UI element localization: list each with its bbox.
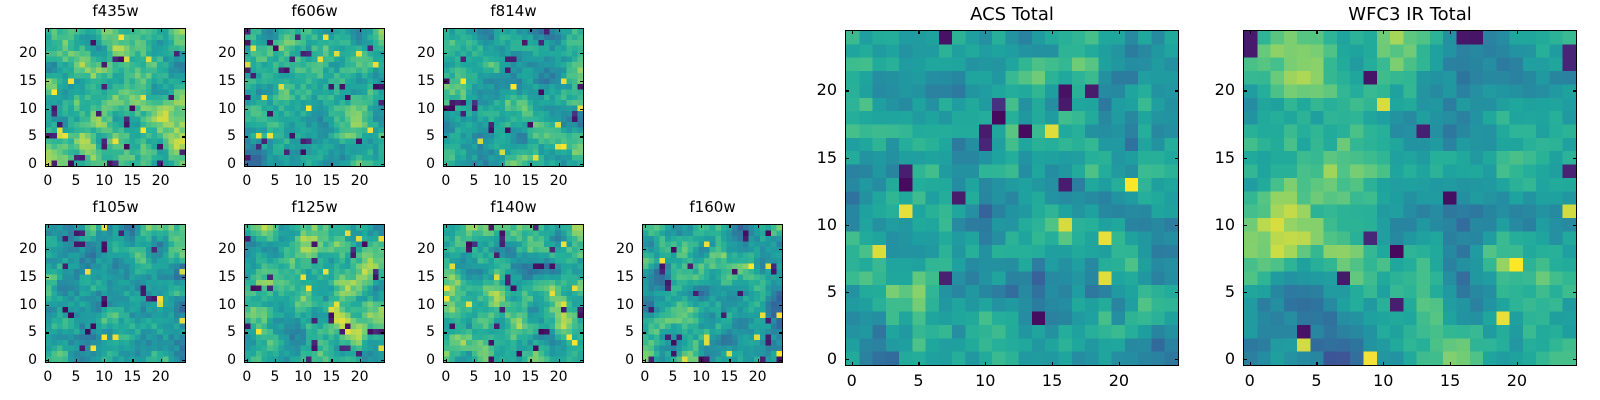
x-tick-label: 15 (123, 174, 141, 188)
y-tick-left (443, 360, 447, 361)
x-tick-top (104, 224, 105, 228)
panel-wfc3-ir-total: WFC3 IR Total0510152005101520 (1183, 4, 1577, 396)
y-tick-left (45, 81, 49, 82)
y-tick-left (443, 53, 447, 54)
heatmap-image-f814w (444, 29, 583, 166)
x-tick-label: 20 (1109, 373, 1129, 389)
x-tick-top (474, 28, 475, 32)
y-tick-left (244, 360, 248, 361)
x-tick-bottom (1316, 362, 1317, 366)
y-tick-left (45, 53, 49, 54)
y-tick-label: 10 (184, 298, 236, 312)
y-tick-left (45, 164, 49, 165)
y-tick-right (779, 305, 783, 306)
y-tick-label: 20 (184, 242, 236, 256)
y-tick-left (1243, 359, 1247, 360)
x-tick-bottom (303, 163, 304, 167)
x-tick-bottom (474, 163, 475, 167)
x-tick-label: 5 (913, 373, 923, 389)
y-tick-right (1175, 158, 1179, 159)
panel-f160w: f160w0510152005101520 (582, 198, 783, 393)
x-tick-top (247, 28, 248, 32)
y-tick-right (580, 109, 584, 110)
y-tick-label: 5 (1183, 284, 1235, 300)
x-tick-top (331, 224, 332, 228)
y-tick-left (443, 109, 447, 110)
y-tick-left (642, 360, 646, 361)
heatmap-axes-f105w (45, 224, 186, 363)
x-tick-top (559, 28, 560, 32)
y-tick-label: 5 (383, 129, 435, 143)
x-tick-bottom (559, 359, 560, 363)
y-tick-left (845, 225, 849, 226)
figure-canvas: f435w0510152005101520f606w05101520051015… (0, 0, 1600, 400)
panel-title-wfc3-ir-total: WFC3 IR Total (1243, 6, 1577, 24)
x-tick-top (1450, 30, 1451, 34)
heatmap-axes-f606w (244, 28, 385, 167)
x-tick-top (247, 224, 248, 228)
y-tick-label: 10 (582, 298, 634, 312)
y-tick-left (443, 332, 447, 333)
panel-f140w: f140w0510152005101520 (383, 198, 584, 393)
y-tick-left (244, 136, 248, 137)
x-tick-label: 15 (322, 174, 340, 188)
x-tick-top (76, 28, 77, 32)
y-tick-left (244, 249, 248, 250)
x-tick-top (502, 224, 503, 228)
x-tick-label: 0 (43, 370, 52, 384)
y-tick-left (642, 332, 646, 333)
y-tick-label: 10 (383, 102, 435, 116)
x-tick-top (161, 28, 162, 32)
x-tick-label: 0 (43, 174, 52, 188)
x-tick-bottom (275, 163, 276, 167)
x-tick-label: 20 (550, 174, 568, 188)
x-tick-bottom (275, 359, 276, 363)
x-tick-label: 20 (749, 370, 767, 384)
x-tick-top (530, 224, 531, 228)
x-tick-bottom (132, 163, 133, 167)
x-tick-label: 15 (322, 370, 340, 384)
x-tick-label: 10 (1373, 373, 1393, 389)
heatmap-image-acs-total (846, 31, 1178, 365)
y-tick-right (1175, 90, 1179, 91)
x-tick-bottom (559, 163, 560, 167)
x-tick-label: 5 (470, 370, 479, 384)
x-tick-top (1383, 30, 1384, 34)
x-tick-bottom (104, 163, 105, 167)
y-tick-left (244, 332, 248, 333)
y-tick-left (45, 360, 49, 361)
y-tick-label: 20 (582, 242, 634, 256)
y-tick-label: 5 (785, 284, 837, 300)
y-tick-right (580, 53, 584, 54)
heatmap-image-f140w (444, 225, 583, 362)
x-tick-top (1052, 30, 1053, 34)
heatmap-image-f435w (46, 29, 185, 166)
x-tick-label: 15 (720, 370, 738, 384)
x-tick-top (132, 224, 133, 228)
x-tick-bottom (474, 359, 475, 363)
y-tick-right (779, 249, 783, 250)
y-tick-left (845, 158, 849, 159)
y-tick-left (45, 332, 49, 333)
y-tick-right (1573, 292, 1577, 293)
y-tick-label: 5 (0, 129, 37, 143)
x-tick-top (559, 224, 560, 228)
y-tick-left (845, 359, 849, 360)
x-tick-top (985, 30, 986, 34)
y-tick-label: 20 (785, 82, 837, 98)
y-tick-label: 15 (184, 74, 236, 88)
heatmap-axes-f435w (45, 28, 186, 167)
y-tick-left (45, 305, 49, 306)
y-tick-label: 0 (582, 353, 634, 367)
y-tick-label: 20 (0, 242, 37, 256)
y-tick-left (45, 277, 49, 278)
x-tick-label: 0 (242, 370, 251, 384)
x-tick-bottom (360, 359, 361, 363)
y-tick-label: 0 (785, 351, 837, 367)
x-tick-label: 0 (242, 174, 251, 188)
x-tick-bottom (502, 163, 503, 167)
y-tick-label: 10 (1183, 217, 1235, 233)
y-tick-left (244, 277, 248, 278)
y-tick-label: 10 (785, 217, 837, 233)
y-tick-label: 0 (1183, 351, 1235, 367)
y-tick-left (45, 136, 49, 137)
x-tick-bottom (673, 359, 674, 363)
heatmap-axes-wfc3-ir-total (1243, 30, 1577, 366)
y-tick-label: 10 (184, 102, 236, 116)
x-tick-label: 5 (72, 174, 81, 188)
y-tick-label: 20 (1183, 82, 1235, 98)
x-tick-label: 20 (152, 370, 170, 384)
x-tick-top (360, 28, 361, 32)
y-tick-right (1573, 359, 1577, 360)
y-tick-left (244, 81, 248, 82)
y-tick-label: 15 (0, 270, 37, 284)
y-tick-right (779, 332, 783, 333)
y-tick-label: 15 (0, 74, 37, 88)
x-tick-label: 10 (95, 174, 113, 188)
y-tick-left (45, 249, 49, 250)
x-tick-label: 15 (1440, 373, 1460, 389)
x-tick-top (474, 224, 475, 228)
x-tick-label: 0 (441, 370, 450, 384)
x-tick-bottom (985, 362, 986, 366)
panel-f125w: f125w0510152005101520 (184, 198, 385, 393)
x-tick-label: 10 (692, 370, 710, 384)
x-tick-label: 10 (975, 373, 995, 389)
y-tick-label: 5 (383, 325, 435, 339)
x-tick-bottom (360, 163, 361, 167)
y-tick-label: 5 (0, 325, 37, 339)
y-tick-left (1243, 90, 1247, 91)
x-tick-label: 20 (152, 174, 170, 188)
heatmap-axes-f140w (443, 224, 584, 363)
panel-f814w: f814w0510152005101520 (383, 2, 584, 197)
heatmap-image-f606w (245, 29, 384, 166)
panel-title-f105w: f105w (45, 200, 186, 215)
y-tick-left (443, 136, 447, 137)
x-tick-label: 15 (123, 370, 141, 384)
y-tick-label: 0 (184, 157, 236, 171)
x-tick-top (132, 28, 133, 32)
y-tick-label: 15 (582, 270, 634, 284)
x-tick-label: 20 (1507, 373, 1527, 389)
x-tick-label: 20 (550, 370, 568, 384)
x-tick-top (758, 224, 759, 228)
x-tick-top (104, 28, 105, 32)
x-tick-label: 0 (1245, 373, 1255, 389)
x-tick-label: 15 (521, 370, 539, 384)
y-tick-label: 10 (0, 298, 37, 312)
y-tick-left (244, 109, 248, 110)
x-tick-bottom (161, 163, 162, 167)
x-tick-bottom (132, 359, 133, 363)
x-tick-bottom (530, 163, 531, 167)
y-tick-label: 10 (383, 298, 435, 312)
x-tick-top (729, 224, 730, 228)
y-tick-label: 15 (383, 270, 435, 284)
y-tick-right (779, 277, 783, 278)
y-tick-left (443, 249, 447, 250)
x-tick-top (76, 224, 77, 228)
x-tick-bottom (331, 359, 332, 363)
x-tick-label: 5 (271, 370, 280, 384)
x-tick-top (303, 224, 304, 228)
x-tick-bottom (1517, 362, 1518, 366)
y-tick-left (443, 81, 447, 82)
y-tick-label: 0 (0, 157, 37, 171)
x-tick-label: 5 (271, 174, 280, 188)
x-tick-label: 20 (351, 174, 369, 188)
x-tick-top (701, 224, 702, 228)
x-tick-label: 15 (1042, 373, 1062, 389)
x-tick-top (1119, 30, 1120, 34)
y-tick-right (1573, 90, 1577, 91)
x-tick-label: 5 (669, 370, 678, 384)
x-tick-bottom (1119, 362, 1120, 366)
y-tick-right (1175, 225, 1179, 226)
y-tick-left (443, 277, 447, 278)
panel-title-acs-total: ACS Total (845, 6, 1179, 24)
x-tick-bottom (918, 362, 919, 366)
y-tick-left (1243, 158, 1247, 159)
heatmap-image-f125w (245, 225, 384, 362)
y-tick-label: 5 (582, 325, 634, 339)
heatmap-image-f105w (46, 225, 185, 362)
x-tick-label: 0 (640, 370, 649, 384)
panel-title-f435w: f435w (45, 4, 186, 19)
x-tick-bottom (76, 359, 77, 363)
y-tick-left (443, 164, 447, 165)
x-tick-bottom (701, 359, 702, 363)
y-tick-label: 20 (184, 46, 236, 60)
y-tick-label: 20 (383, 46, 435, 60)
x-tick-label: 0 (441, 174, 450, 188)
y-tick-label: 15 (184, 270, 236, 284)
y-tick-left (244, 164, 248, 165)
y-tick-right (580, 164, 584, 165)
x-tick-top (446, 224, 447, 228)
x-tick-top (446, 28, 447, 32)
y-tick-left (244, 53, 248, 54)
y-tick-label: 5 (184, 325, 236, 339)
x-tick-top (48, 28, 49, 32)
x-tick-label: 5 (470, 174, 479, 188)
x-tick-top (673, 224, 674, 228)
x-tick-top (502, 28, 503, 32)
x-tick-label: 10 (95, 370, 113, 384)
x-tick-top (645, 224, 646, 228)
x-tick-label: 5 (1311, 373, 1321, 389)
y-tick-left (845, 292, 849, 293)
x-tick-label: 15 (521, 174, 539, 188)
x-tick-bottom (502, 359, 503, 363)
x-tick-label: 0 (847, 373, 857, 389)
x-tick-bottom (303, 359, 304, 363)
y-tick-right (1573, 225, 1577, 226)
x-tick-bottom (76, 163, 77, 167)
y-tick-left (1243, 225, 1247, 226)
x-tick-label: 10 (294, 370, 312, 384)
x-tick-bottom (729, 359, 730, 363)
panel-f105w: f105w0510152005101520 (0, 198, 186, 393)
y-tick-right (580, 81, 584, 82)
x-tick-bottom (1450, 362, 1451, 366)
heatmap-axes-acs-total (845, 30, 1179, 366)
y-tick-label: 0 (184, 353, 236, 367)
x-tick-label: 10 (294, 174, 312, 188)
x-tick-top (852, 30, 853, 34)
y-tick-label: 20 (0, 46, 37, 60)
y-tick-label: 15 (1183, 150, 1235, 166)
panel-acs-total: ACS Total0510152005101520 (785, 4, 1179, 396)
heatmap-image-wfc3-ir-total (1244, 31, 1576, 365)
panel-title-f606w: f606w (244, 4, 385, 19)
x-tick-top (1517, 30, 1518, 34)
y-tick-left (642, 305, 646, 306)
x-tick-top (331, 28, 332, 32)
x-tick-top (918, 30, 919, 34)
y-tick-label: 20 (383, 242, 435, 256)
x-tick-label: 5 (72, 370, 81, 384)
heatmap-axes-f160w (642, 224, 783, 363)
panel-f606w: f606w0510152005101520 (184, 2, 385, 197)
y-tick-right (580, 136, 584, 137)
x-tick-top (530, 28, 531, 32)
x-tick-bottom (1250, 362, 1251, 366)
heatmap-axes-f125w (244, 224, 385, 363)
y-tick-left (1243, 292, 1247, 293)
y-tick-right (1175, 359, 1179, 360)
x-tick-top (1316, 30, 1317, 34)
y-tick-label: 15 (785, 150, 837, 166)
heatmap-image-f160w (643, 225, 782, 362)
y-tick-right (1573, 158, 1577, 159)
x-tick-bottom (161, 359, 162, 363)
x-tick-label: 10 (493, 174, 511, 188)
x-tick-top (275, 224, 276, 228)
y-tick-label: 5 (184, 129, 236, 143)
x-tick-top (275, 28, 276, 32)
panel-title-f140w: f140w (443, 200, 584, 215)
y-tick-label: 10 (0, 102, 37, 116)
x-tick-top (360, 224, 361, 228)
y-tick-left (642, 277, 646, 278)
y-tick-label: 0 (383, 157, 435, 171)
x-tick-top (48, 224, 49, 228)
x-tick-bottom (331, 163, 332, 167)
x-tick-bottom (104, 359, 105, 363)
y-tick-label: 0 (0, 353, 37, 367)
x-tick-top (161, 224, 162, 228)
x-tick-bottom (1383, 362, 1384, 366)
x-tick-label: 10 (493, 370, 511, 384)
x-tick-bottom (852, 362, 853, 366)
heatmap-axes-f814w (443, 28, 584, 167)
y-tick-label: 15 (383, 74, 435, 88)
x-tick-top (1250, 30, 1251, 34)
y-tick-left (642, 249, 646, 250)
panel-f435w: f435w0510152005101520 (0, 2, 186, 197)
y-tick-label: 0 (383, 353, 435, 367)
x-tick-bottom (1052, 362, 1053, 366)
panel-title-f125w: f125w (244, 200, 385, 215)
y-tick-left (244, 305, 248, 306)
panel-title-f814w: f814w (443, 4, 584, 19)
y-tick-left (45, 109, 49, 110)
y-tick-right (1175, 292, 1179, 293)
panel-title-f160w: f160w (642, 200, 783, 215)
x-tick-bottom (758, 359, 759, 363)
y-tick-left (845, 90, 849, 91)
y-tick-right (779, 360, 783, 361)
y-tick-left (443, 305, 447, 306)
x-tick-bottom (530, 359, 531, 363)
x-tick-label: 20 (351, 370, 369, 384)
x-tick-top (303, 28, 304, 32)
